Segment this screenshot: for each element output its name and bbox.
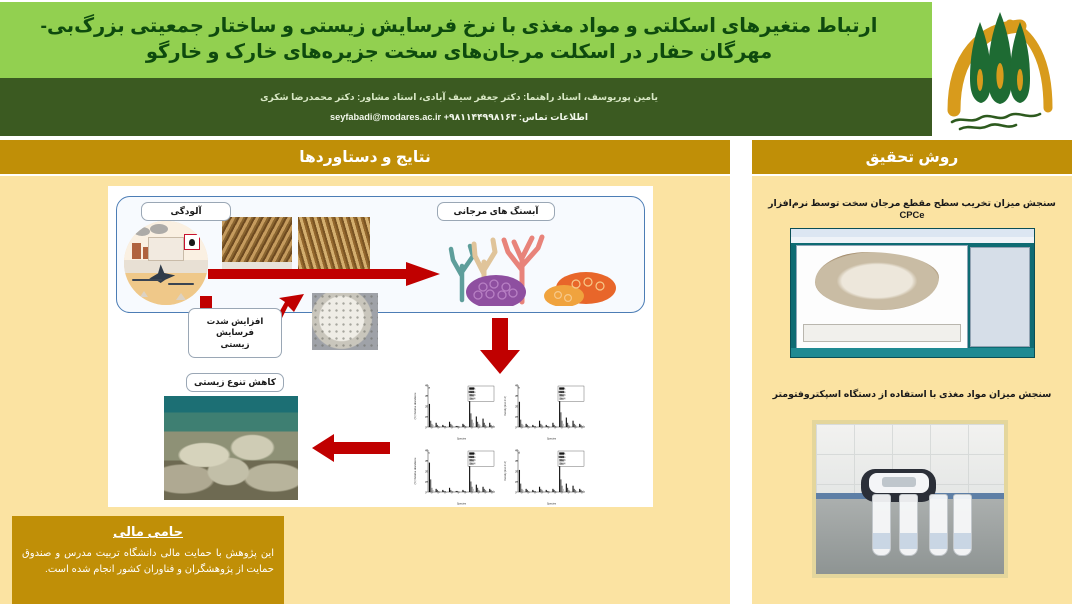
bar — [566, 484, 567, 492]
bar — [430, 421, 431, 427]
svg-text:S8: S8 — [478, 426, 482, 430]
svg-text:S4: S4 — [451, 426, 455, 430]
label-coral-reefs: آبسنگ های مرجانی — [437, 202, 555, 221]
massive-coral-purple-icon — [466, 275, 526, 306]
chart-legend: KharkKharkoSite 3Site 4 — [468, 386, 494, 401]
svg-text:S9: S9 — [574, 491, 578, 495]
tarbiat-modares-logo-icon — [936, 4, 1064, 134]
test-tube — [899, 494, 918, 556]
svg-text:S7: S7 — [561, 491, 565, 495]
svg-text:Kharko: Kharko — [468, 391, 476, 394]
wave-line — [132, 279, 162, 281]
university-logo — [918, 0, 1072, 136]
bar — [482, 419, 483, 427]
cpce-statusbar — [791, 348, 1034, 357]
svg-text:S6: S6 — [464, 491, 468, 495]
bar — [456, 491, 457, 492]
label-bioerosion-line2: فرسایش — [216, 327, 254, 338]
section-header-method: روش تحقیق — [752, 140, 1072, 174]
arrow-down-to-charts — [480, 318, 520, 374]
contact-line: اطلاعات تماس: seyfabadi@modares.ac.ir +۹… — [330, 112, 588, 123]
bar — [429, 463, 430, 492]
bar — [540, 489, 541, 492]
svg-text:Species: Species — [457, 502, 467, 506]
device-display — [882, 477, 916, 486]
svg-text:S2: S2 — [527, 426, 531, 430]
bar — [574, 489, 575, 492]
svg-text:b: b — [518, 386, 520, 390]
svg-text:S8: S8 — [478, 491, 482, 495]
eroded-coral-rubble-photo — [312, 293, 378, 350]
test-tube — [929, 494, 948, 556]
bar — [430, 479, 431, 492]
label-bioerosion: افزایش شدت فرسایش زیستی — [188, 308, 282, 358]
svg-text:0: 0 — [425, 426, 427, 430]
chart-legend: KharkKharkoSite 3Site 4 — [558, 451, 584, 466]
svg-text:S10: S10 — [491, 425, 496, 430]
scale-ruler — [803, 324, 961, 342]
svg-text:d: d — [518, 451, 520, 455]
bar — [462, 490, 463, 492]
svg-text:S9: S9 — [484, 491, 488, 495]
bar — [489, 489, 490, 492]
svg-text:Kharko: Kharko — [468, 456, 476, 459]
svg-text:S5: S5 — [547, 491, 551, 495]
svg-text:Species: Species — [457, 437, 467, 441]
arrow-left-to-biodiversity — [312, 434, 390, 462]
svg-text:0: 0 — [515, 426, 517, 430]
bar — [429, 404, 430, 427]
section-header-results-label: نتایج و دستاوردها — [299, 148, 431, 167]
bar — [579, 424, 580, 427]
arrow-right-main — [208, 262, 440, 286]
device-body — [869, 473, 929, 493]
bar — [449, 422, 450, 427]
bar — [470, 482, 471, 493]
svg-text:S10: S10 — [581, 490, 586, 495]
svg-text:Density (ind. m-2): Density (ind. m-2) — [504, 396, 507, 416]
logo-stripe-dark — [918, 78, 932, 136]
svg-text:S1: S1 — [521, 491, 525, 495]
cpce-control-panel — [970, 247, 1030, 347]
bar-chart-panel-b: 010203040S1S2S3S4S5S6S7S8S9S10SpeciesDen… — [502, 380, 588, 441]
bar — [482, 487, 483, 492]
bar — [442, 425, 443, 427]
cpce-menubar — [791, 237, 1034, 243]
svg-text:S3: S3 — [534, 491, 538, 495]
bar — [473, 489, 474, 492]
author-band: یامین پوریوسف، استاد راهنما: دکتر جعفر س… — [0, 78, 918, 136]
svg-text:Species: Species — [547, 437, 557, 441]
svg-text:Site 3: Site 3 — [470, 459, 477, 462]
bar — [520, 420, 521, 427]
coral-reef-illustration — [448, 222, 638, 306]
chart-legend: KharkKharkoSite 3Site 4 — [468, 451, 494, 466]
svg-text:Site 3: Site 3 — [560, 394, 567, 397]
smoke-cloud-icon — [134, 227, 150, 236]
title-band: ارتباط متغیرهای اسکلتی و مواد مغذی با نر… — [0, 2, 918, 78]
svg-text:S4: S4 — [451, 491, 455, 495]
svg-text:S3: S3 — [534, 426, 538, 430]
svg-text:S7: S7 — [561, 426, 565, 430]
svg-text:S8: S8 — [568, 491, 572, 495]
bar-chart-panel-d: 010203040S1S2S3S4S5S6S7S8S9S10SpeciesDen… — [502, 445, 588, 506]
svg-text:Site 4: Site 4 — [560, 398, 567, 401]
svg-text:0: 0 — [425, 491, 427, 495]
bar — [572, 486, 573, 492]
bar — [477, 422, 478, 427]
bar — [563, 424, 564, 427]
bar — [563, 489, 564, 492]
section-header-results: نتایج و دستاوردها — [0, 140, 730, 174]
bar — [442, 490, 443, 492]
label-bioerosion-line1: افزایش شدت — [207, 316, 264, 327]
svg-text:S2: S2 — [437, 491, 441, 495]
smokestack-icon — [143, 247, 148, 259]
bar — [477, 488, 478, 492]
sponsor-title: حامی مالی — [22, 524, 274, 540]
svg-text:Relative abundance (%): Relative abundance (%) — [414, 457, 417, 484]
bar — [473, 423, 474, 427]
bar — [436, 489, 437, 492]
bar — [540, 424, 541, 427]
bar — [539, 421, 540, 427]
smoke-cloud-icon — [150, 224, 168, 234]
coral-cross-section-specimen — [815, 252, 939, 310]
svg-text:S9: S9 — [484, 426, 488, 430]
svg-text:S5: S5 — [457, 491, 461, 495]
bar — [456, 426, 457, 427]
bar — [552, 489, 553, 492]
sea-layer — [124, 260, 208, 273]
svg-text:Site 4: Site 4 — [470, 463, 477, 466]
bar — [462, 424, 463, 427]
bar — [539, 487, 540, 492]
svg-text:S4: S4 — [541, 426, 545, 430]
svg-text:S4: S4 — [541, 491, 545, 495]
bar — [526, 489, 527, 492]
chart-legend: KharkKharkoSite 3Site 4 — [558, 386, 584, 401]
bar — [560, 479, 561, 492]
svg-text:a: a — [428, 386, 430, 390]
section-header-method-label: روش تحقیق — [866, 148, 959, 167]
bar-chart-grid: 010203040S1S2S3S4S5S6S7S8S9S10SpeciesRel… — [412, 380, 588, 506]
svg-text:S8: S8 — [568, 426, 572, 430]
bar — [566, 418, 567, 427]
bar — [450, 424, 451, 427]
bar — [574, 424, 575, 427]
sponsor-text: این پژوهش با حمایت مالی دانشگاه تربیت مد… — [22, 546, 274, 577]
svg-text:Kharko: Kharko — [558, 456, 566, 459]
bar — [519, 470, 520, 492]
svg-text:S6: S6 — [464, 426, 468, 430]
factory-building-icon — [148, 237, 184, 261]
svg-text:Khark: Khark — [559, 387, 566, 390]
svg-text:S9: S9 — [574, 426, 578, 430]
svg-text:S6: S6 — [554, 491, 558, 495]
method-caption-spectrophotometer: سنجش میزان مواد مغذی با استفاده از دستگا… — [758, 388, 1066, 400]
contact-label: اطلاعات تماس: — [519, 112, 588, 122]
reef-rubble-texture — [164, 425, 298, 500]
bar — [567, 423, 568, 427]
svg-text:S2: S2 — [527, 491, 531, 495]
svg-text:Kharko: Kharko — [558, 391, 566, 394]
wave-line — [168, 283, 194, 285]
svg-text:Relative abundance (%): Relative abundance (%) — [414, 392, 417, 419]
svg-text:Site 4: Site 4 — [560, 463, 567, 466]
svg-text:0: 0 — [515, 491, 517, 495]
sponsor-panel: حامی مالی این پژوهش با حمایت مالی دانشگا… — [12, 516, 284, 604]
bar — [560, 412, 561, 427]
svg-text:S1: S1 — [521, 426, 525, 430]
svg-text:S5: S5 — [457, 426, 461, 430]
bar-chart-panel-c: 010203040S1S2S3S4S5S6S7S8S9S10SpeciesRel… — [412, 445, 498, 506]
bar — [469, 465, 470, 492]
method-caption-cpce: سنجش میزان تخریب سطح مقطع مرجان سخت توسط… — [758, 197, 1066, 220]
svg-text:S1: S1 — [431, 426, 435, 430]
bar-chart-panel-a: 010203040S1S2S3S4S5S6S7S8S9S10SpeciesRel… — [412, 380, 498, 441]
bioerosion-holes — [312, 293, 378, 350]
svg-text:Khark: Khark — [469, 387, 476, 390]
poster-root: ارتباط متغیرهای اسکلتی و مواد مغذی با نر… — [0, 0, 1072, 604]
degraded-reef-underwater-photo — [164, 396, 298, 500]
bar — [519, 402, 520, 427]
svg-text:Site 3: Site 3 — [470, 394, 477, 397]
svg-text:S6: S6 — [554, 426, 558, 430]
bar — [546, 425, 547, 427]
logo-stripe-green — [918, 2, 932, 78]
bar — [470, 413, 471, 427]
svg-text:S2: S2 — [437, 426, 441, 430]
hazard-sign-icon — [184, 234, 200, 250]
page-title: ارتباط متغیرهای اسکلتی و مواد مغذی با نر… — [0, 14, 918, 65]
svg-text:S7: S7 — [471, 426, 475, 430]
svg-text:Site 3: Site 3 — [560, 459, 567, 462]
cpce-image-canvas — [796, 245, 968, 349]
spectrophotometer-lab-photo — [812, 420, 1008, 578]
svg-text:Site 4: Site 4 — [470, 398, 477, 401]
contact-phone: +۹۸۱۱۴۴۹۹۸۱۶۳ — [444, 112, 517, 122]
massive-coral-orange-icon — [544, 272, 616, 306]
svg-text:Species: Species — [547, 502, 557, 506]
svg-text:c: c — [429, 451, 431, 455]
bar — [546, 490, 547, 492]
authors-line: یامین پوریوسف، استاد راهنما: دکتر جعفر س… — [260, 92, 658, 103]
bar — [552, 423, 553, 427]
label-biodiversity-loss: کاهش تنوع زیستی — [186, 373, 284, 392]
contact-email[interactable]: seyfabadi@modares.ac.ir — [330, 112, 441, 122]
bar — [449, 488, 450, 492]
bar — [484, 489, 485, 492]
svg-text:S1: S1 — [431, 491, 435, 495]
smokestack-icon — [132, 243, 141, 259]
bar — [476, 417, 477, 428]
svg-text:S10: S10 — [491, 490, 496, 495]
svg-text:S5: S5 — [547, 426, 551, 430]
svg-text:S10: S10 — [581, 425, 586, 430]
bar — [526, 424, 527, 427]
bar — [484, 423, 485, 427]
svg-text:S3: S3 — [444, 426, 448, 430]
bar — [520, 484, 521, 492]
bar — [567, 488, 568, 492]
pollution-illustration — [124, 221, 208, 305]
bar — [476, 485, 477, 492]
poster-header: ارتباط متغیرهای اسکلتی و مواد مغذی با نر… — [0, 0, 1072, 136]
bar — [436, 423, 437, 427]
svg-text:Khark: Khark — [469, 452, 476, 455]
bar — [572, 421, 573, 427]
svg-text:S7: S7 — [471, 491, 475, 495]
label-pollution: آلودگی — [141, 202, 231, 221]
bar — [532, 425, 533, 427]
svg-text:Khark: Khark — [559, 452, 566, 455]
svg-text:S3: S3 — [444, 491, 448, 495]
cpce-titlebar — [791, 229, 1034, 237]
test-tube — [953, 494, 972, 556]
bar — [489, 423, 490, 427]
svg-text:Density (ind. m-2): Density (ind. m-2) — [504, 461, 507, 481]
bar — [579, 489, 580, 492]
label-bioerosion-line3: زیستی — [220, 339, 249, 350]
test-tube — [872, 494, 891, 556]
cpce-software-screenshot — [790, 228, 1035, 358]
bar — [532, 490, 533, 492]
